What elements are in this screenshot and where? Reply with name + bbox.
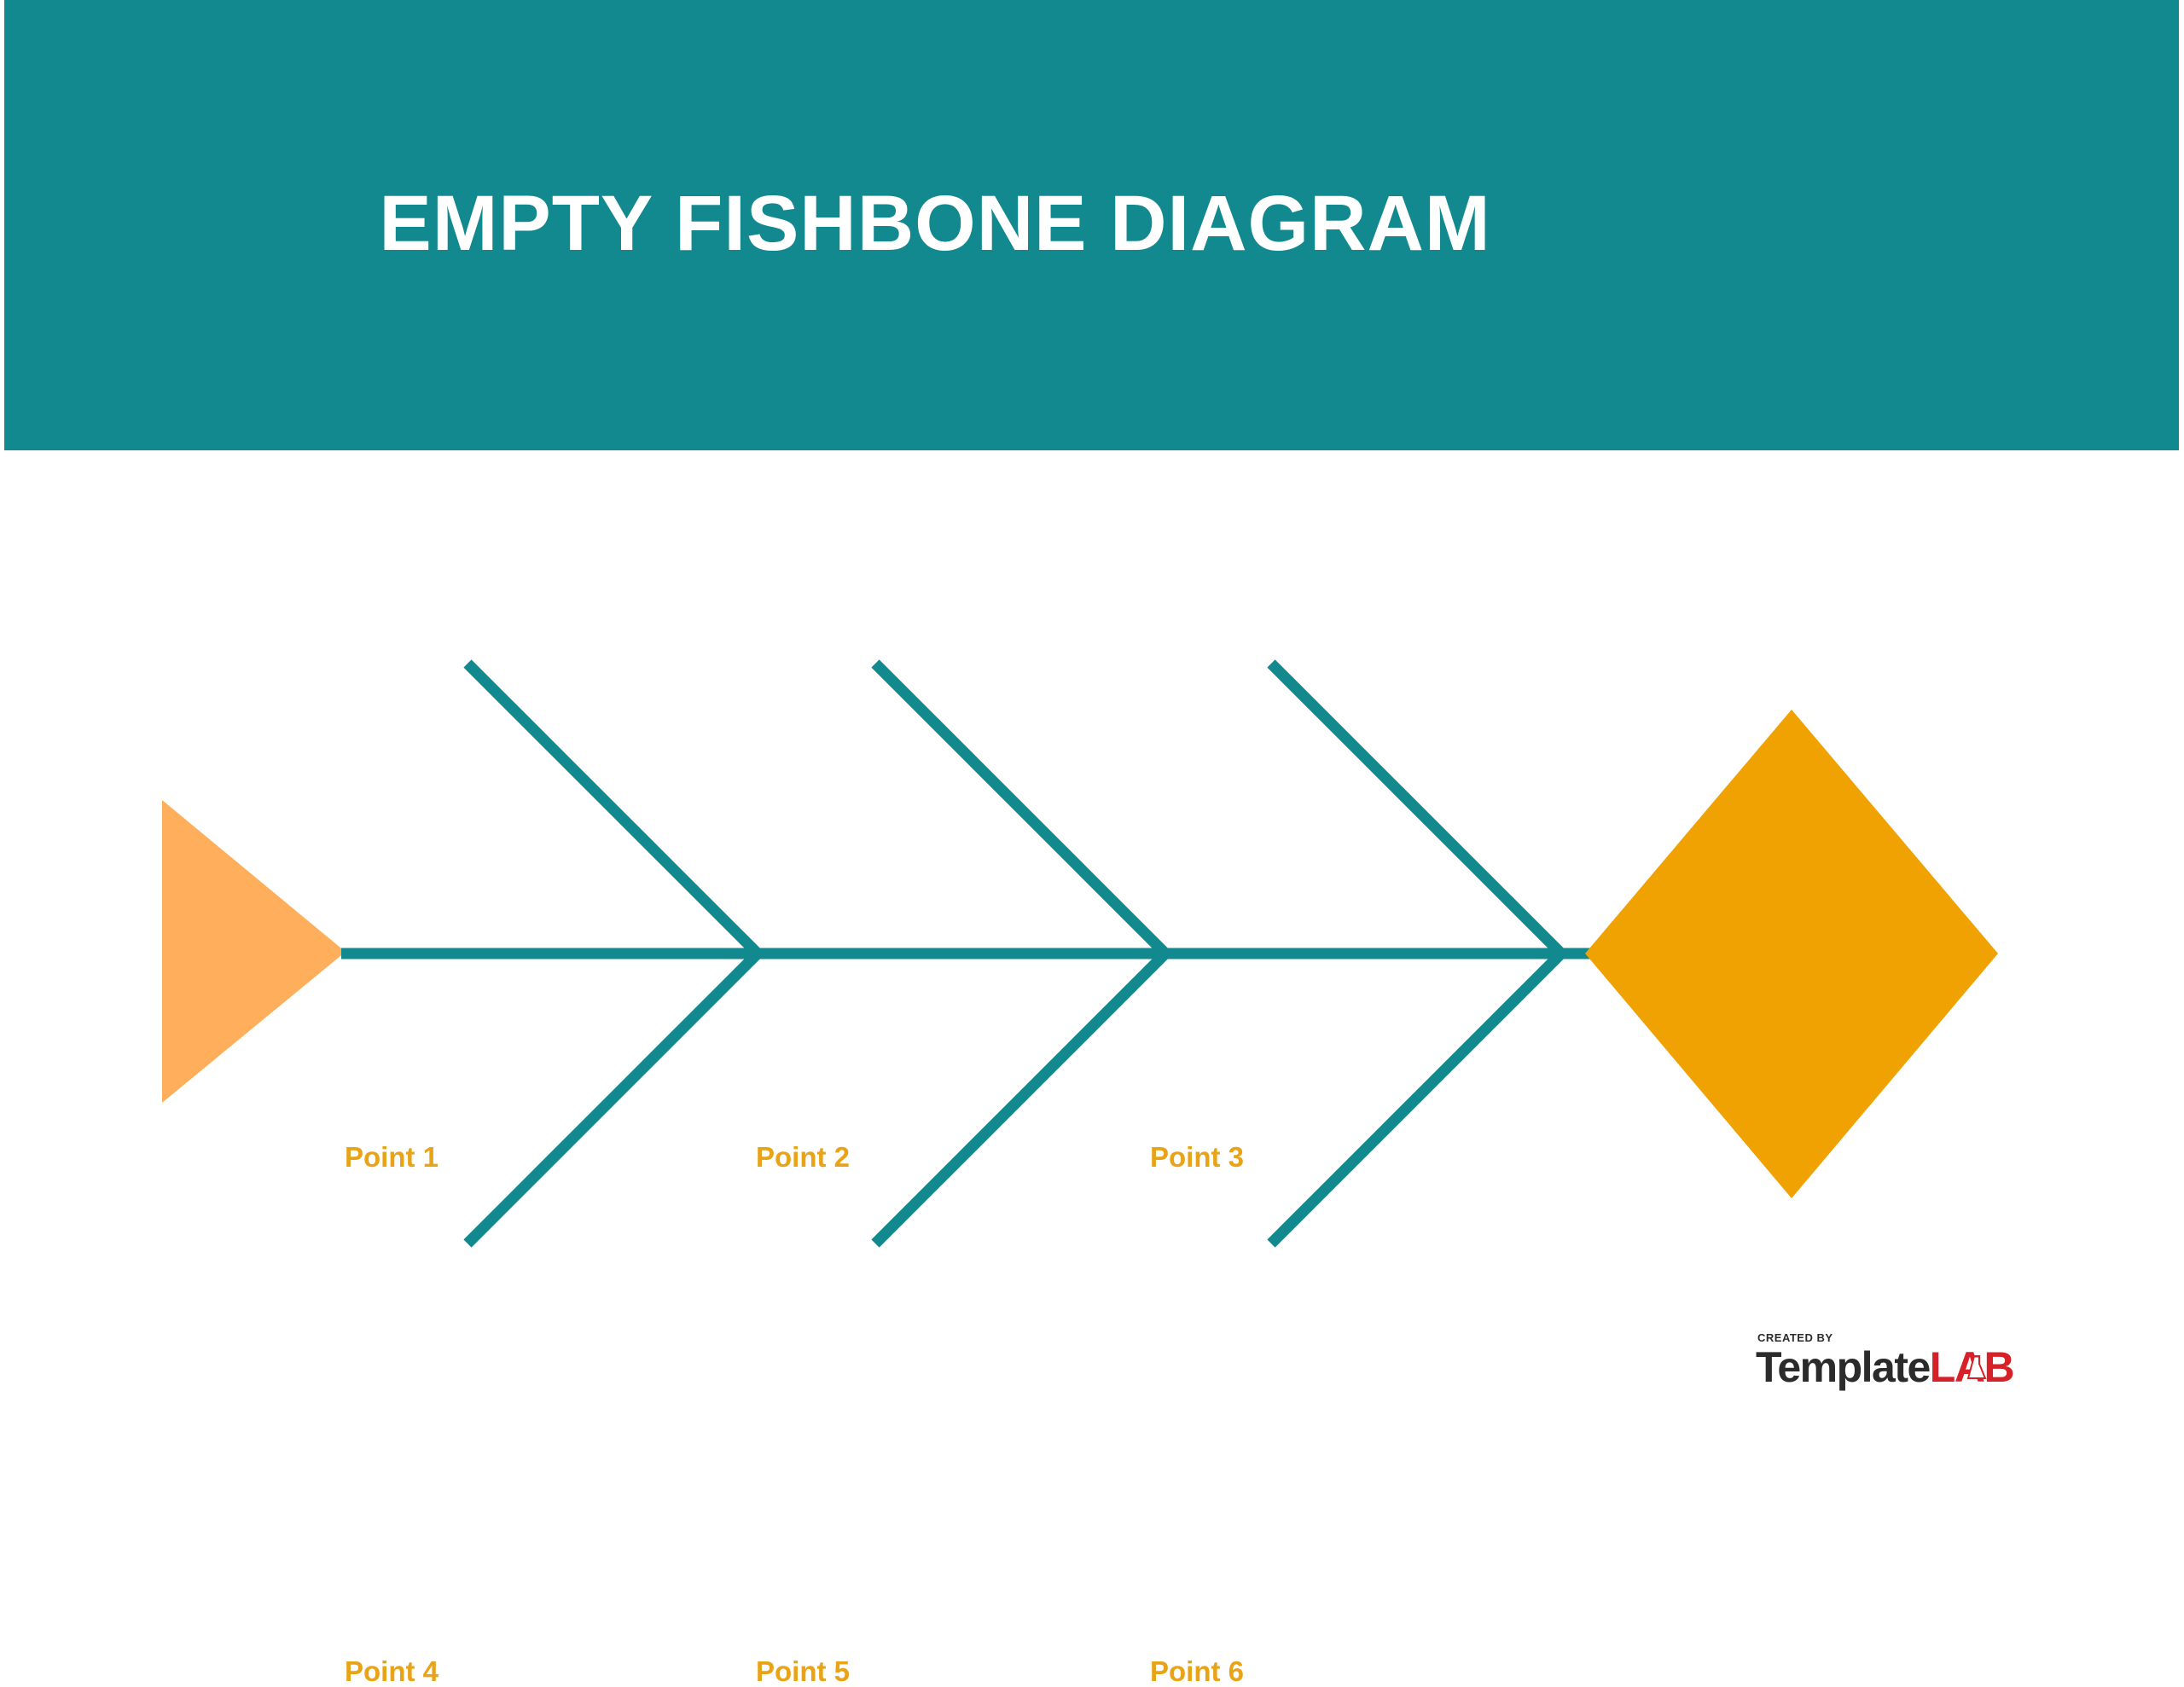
fishbone-bone-lower-6[interactable] <box>1271 954 1561 1244</box>
logo-template-text: Template <box>1756 1343 1930 1391</box>
logo-created-by-text: CREATED BY <box>1757 1332 1833 1343</box>
fishbone-bone-upper-2[interactable] <box>875 664 1165 954</box>
point-label-1[interactable]: Point 1 <box>345 1143 439 1171</box>
templatelab-logo[interactable]: CREATED BY TemplateLAB <box>1756 1332 2046 1406</box>
page-title: EMPTY FISHBONE DIAGRAM <box>4 184 1866 263</box>
fishbone-bone-upper-1[interactable] <box>468 664 758 954</box>
point-label-2[interactable]: Point 2 <box>756 1143 850 1171</box>
fishbone-tail-triangle[interactable] <box>162 800 346 1103</box>
fishbone-head-diamond[interactable] <box>1585 710 1998 1198</box>
fishbone-bone-lower-5[interactable] <box>875 954 1165 1244</box>
fishbone-bone-lower-4[interactable] <box>468 954 758 1244</box>
fishbone-bone-upper-3[interactable] <box>1271 664 1561 954</box>
point-label-4[interactable]: Point 4 <box>345 1657 439 1685</box>
point-label-6[interactable]: Point 6 <box>1150 1657 1244 1685</box>
point-label-5[interactable]: Point 5 <box>756 1657 850 1685</box>
point-label-3[interactable]: Point 3 <box>1150 1143 1244 1171</box>
header-banner: EMPTY FISHBONE DIAGRAM <box>4 0 2179 450</box>
flask-icon <box>1966 1354 1988 1382</box>
